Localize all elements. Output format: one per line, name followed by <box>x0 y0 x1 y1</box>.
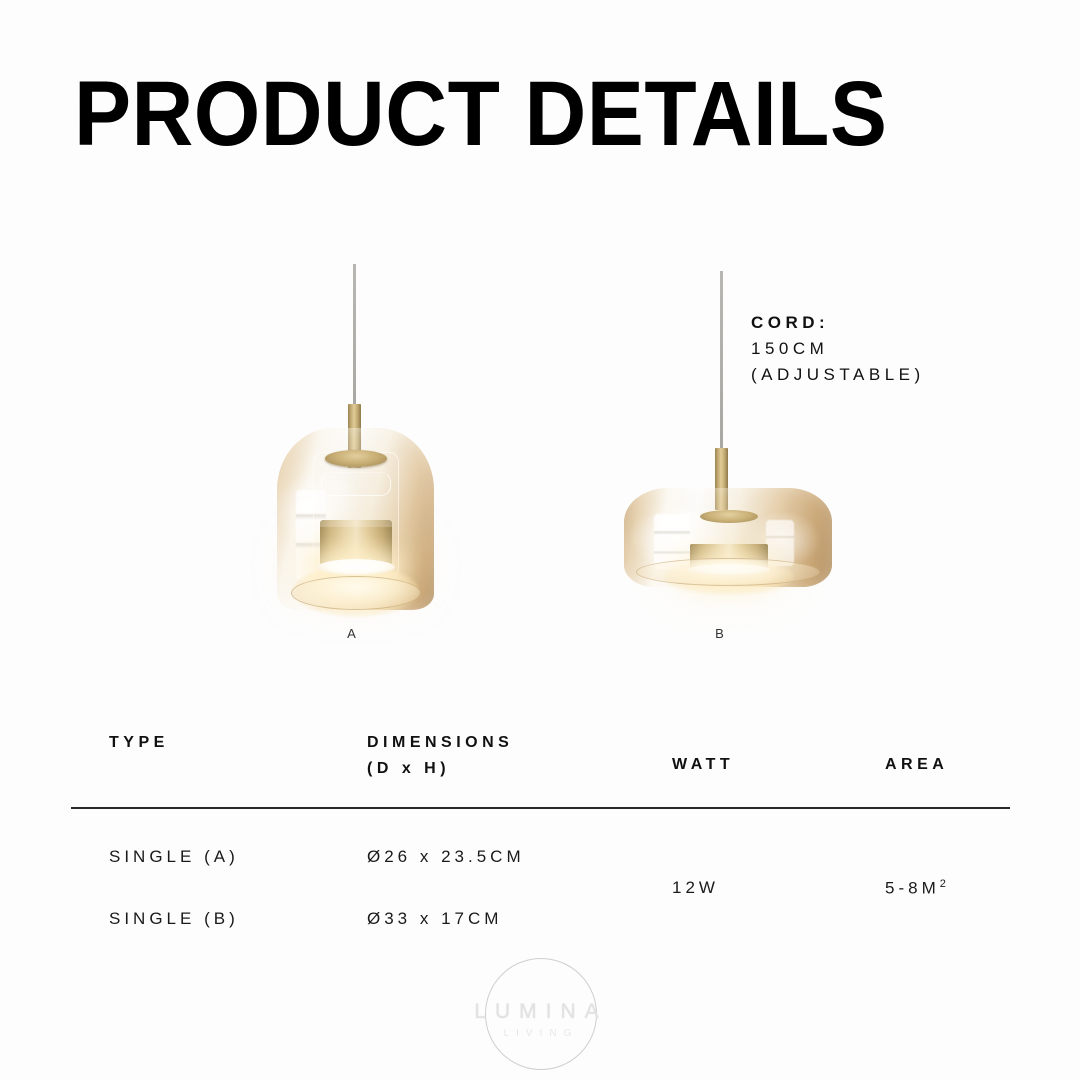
cell-area-value: 5-8M2 <box>885 878 946 899</box>
watermark-brand-name: LUMINA <box>430 1000 652 1024</box>
column-header-area: AREA <box>885 752 948 778</box>
cell-area-number: 5-8M <box>885 879 940 898</box>
table-row: Ø33 x 17CM <box>367 909 502 929</box>
table-row: SINGLE (B) <box>109 909 239 929</box>
column-header-type: TYPE <box>109 730 169 756</box>
column-header-dimensions: DIMENSIONS (D x H) <box>367 730 513 782</box>
cell-area-exponent: 2 <box>940 878 946 890</box>
lamp-caption-a: A <box>332 626 372 641</box>
pendant-lamp-a <box>277 428 434 610</box>
pendant-lamp-b <box>624 488 832 587</box>
lamp-b-top-plate <box>700 510 758 523</box>
lamp-a-top-plate <box>325 450 387 467</box>
column-header-watt: WATT <box>672 752 734 778</box>
watermark-brand-tagline: LIVING <box>430 1028 652 1039</box>
cord-line-lamp-b <box>720 271 723 453</box>
table-row: SINGLE (A) <box>109 847 239 867</box>
lamp-a-light-diffuser <box>317 559 395 575</box>
table-header-row: TYPE DIMENSIONS (D x H) WATT AREA <box>71 730 1010 807</box>
table-row: Ø26 x 23.5CM <box>367 847 525 867</box>
lamp-caption-b: B <box>700 626 740 641</box>
cord-label: CORD: <box>751 310 925 336</box>
specification-table: TYPE DIMENSIONS (D x H) WATT AREA SINGLE… <box>71 730 1010 967</box>
lamp-a-bottom-rim <box>291 576 421 610</box>
cord-length-value: 150CM <box>751 336 925 362</box>
table-body: SINGLE (A) Ø26 x 23.5CM SINGLE (B) Ø33 x… <box>71 807 1010 967</box>
cord-line-lamp-a <box>353 264 356 410</box>
cord-adjustable-note: (ADJUSTABLE) <box>751 362 925 388</box>
cord-annotation: CORD: 150CM (ADJUSTABLE) <box>751 310 925 388</box>
column-header-dimensions-line2: (D x H) <box>367 756 513 782</box>
cell-watt-value: 12W <box>672 878 719 898</box>
column-header-dimensions-line1: DIMENSIONS <box>367 734 513 751</box>
lamp-a-wire-ring <box>321 472 391 496</box>
lamp-b-bottom-rim <box>636 558 820 586</box>
page-title: PRODUCT DETAILS <box>74 62 887 166</box>
brand-watermark: LUMINA LIVING <box>485 958 597 1070</box>
product-details-page: PRODUCT DETAILS CORD: 150CM (ADJUSTABLE)… <box>0 0 1080 1080</box>
